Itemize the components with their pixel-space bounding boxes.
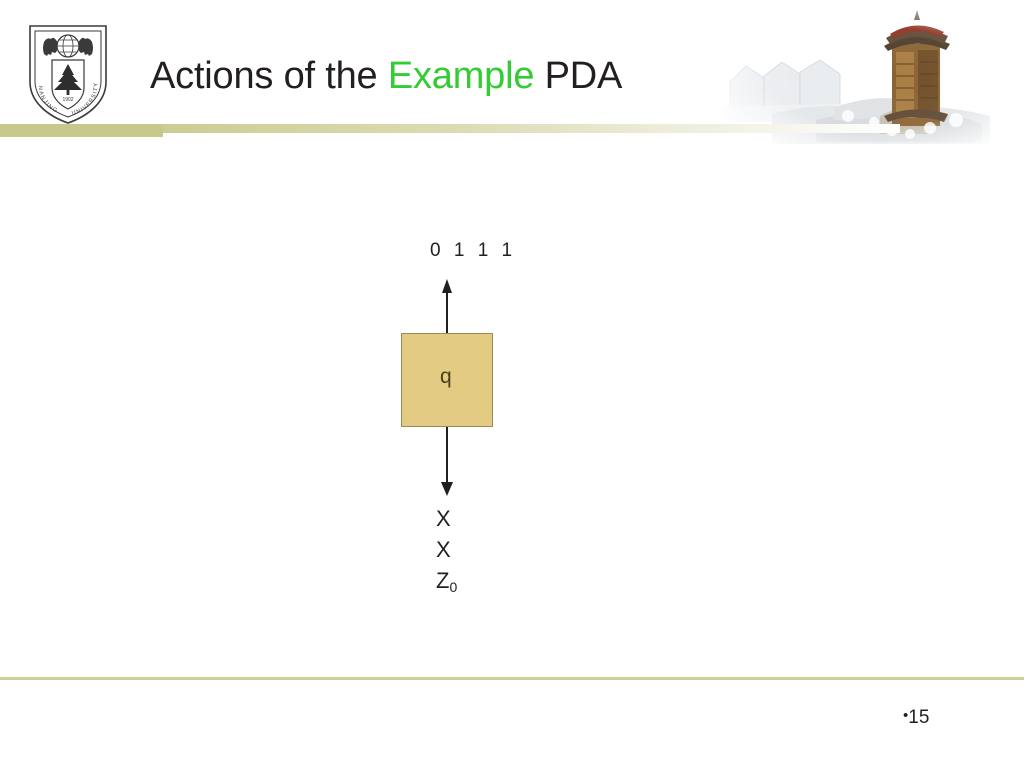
pda-state-box: q — [401, 333, 493, 427]
pda-stack: X X Z0 — [436, 503, 457, 596]
stack-item: X — [436, 534, 457, 565]
input-arrow-icon — [442, 279, 452, 333]
footer-divider — [0, 677, 1024, 680]
stack-item: X — [436, 503, 457, 534]
page-number: •15 — [903, 707, 929, 729]
page-bullet-icon: • — [903, 707, 908, 724]
pda-state-label: q — [440, 366, 452, 388]
stack-symbol: Z — [436, 568, 449, 593]
pda-diagram: 0 1 1 1 q X X Z0 — [0, 0, 1024, 768]
diagram-arrows — [0, 0, 1024, 768]
stack-symbol-subscript: 0 — [449, 579, 457, 595]
stack-item: Z0 — [436, 565, 457, 596]
stack-arrow-icon — [441, 427, 453, 496]
stack-symbol: X — [436, 537, 451, 562]
stack-symbol: X — [436, 506, 451, 531]
page-number-value: 15 — [908, 707, 929, 728]
